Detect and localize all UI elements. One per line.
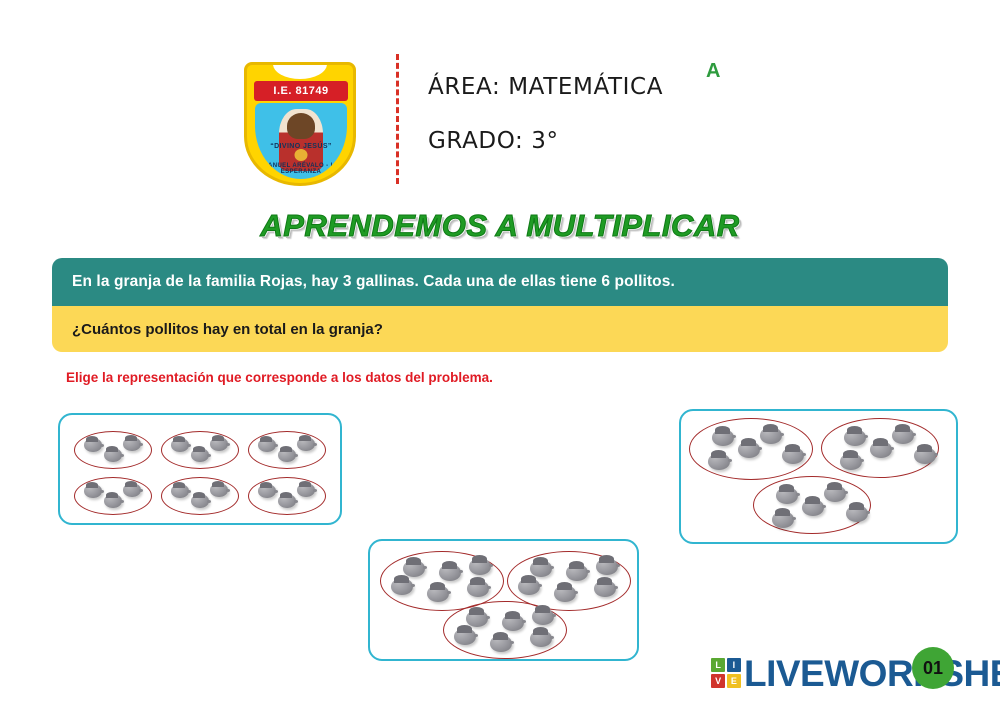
chick-icon <box>171 438 189 452</box>
sacred-heart-figure-icon <box>279 109 323 171</box>
chick-icon <box>566 564 588 581</box>
badge-code-band: I.E. 81749 <box>254 81 348 101</box>
chick-icon <box>84 438 102 452</box>
chick-icon <box>210 437 228 451</box>
page-title: APRENDEMOS A MULTIPLICAR <box>0 208 1000 244</box>
chick-group <box>753 476 871 534</box>
chick-icon <box>844 429 866 446</box>
chick-icon <box>846 505 868 522</box>
chick-icon <box>278 494 296 508</box>
chick-icon <box>892 427 914 444</box>
chick-icon <box>171 484 189 498</box>
problem-question-text: ¿Cuántos pollitos hay en total en la gra… <box>52 321 383 338</box>
chick-icon <box>466 610 488 627</box>
header-dashed-divider <box>396 54 399 184</box>
badge-arc-decoration <box>273 62 327 79</box>
problem-statement-text: En la granja de la familia Rojas, hay 3 … <box>52 273 675 291</box>
answer-option-2[interactable] <box>368 539 639 661</box>
worksheet-header: I.E. 81749 “DIVINO JESÚS” MANUEL ARÉVALO… <box>0 48 1000 198</box>
school-logo: I.E. 81749 “DIVINO JESÚS” MANUEL ARÉVALO… <box>237 62 363 190</box>
grade-line: GRADO: 3° <box>428 128 663 154</box>
heart-icon <box>295 149 308 161</box>
liveworksheets-logo-tile-e: E <box>727 674 741 688</box>
liveworksheets-wordmark: LIVEWORKSHEETS <box>744 653 1000 695</box>
liveworksheets-logo-tile-v: V <box>711 674 725 688</box>
chick-icon <box>824 485 846 502</box>
chick-icon <box>870 441 892 458</box>
chick-icon <box>469 558 491 575</box>
chick-icon <box>258 438 276 452</box>
chick-group <box>248 477 326 515</box>
page-number-badge: 01 <box>912 647 954 689</box>
problem-statement-banner: En la granja de la familia Rojas, hay 3 … <box>52 258 948 306</box>
chick-icon <box>439 564 461 581</box>
chick-icon <box>532 608 554 625</box>
chick-icon <box>596 558 618 575</box>
school-code-label: I.E. 81749 <box>273 85 328 97</box>
chick-icon <box>191 448 209 462</box>
liveworksheets-logo-icon: LIVE <box>711 658 741 688</box>
chick-icon <box>708 453 730 470</box>
chick-icon <box>518 578 540 595</box>
chick-group <box>74 431 152 469</box>
chick-icon <box>840 453 862 470</box>
worksheet-page: I.E. 81749 “DIVINO JESÚS” MANUEL ARÉVALO… <box>0 0 1000 707</box>
school-badge-shield: I.E. 81749 “DIVINO JESÚS” MANUEL ARÉVALO… <box>244 62 356 186</box>
chick-group <box>689 418 813 480</box>
instruction-text: Elige la representación que corresponde … <box>66 370 493 385</box>
chick-icon <box>191 494 209 508</box>
chick-icon <box>297 483 315 497</box>
chick-icon <box>772 511 794 528</box>
chick-group <box>74 477 152 515</box>
problem-question-banner: ¿Cuántos pollitos hay en total en la gra… <box>52 306 948 352</box>
chick-icon <box>391 578 413 595</box>
chick-icon <box>104 494 122 508</box>
chick-icon <box>104 448 122 462</box>
chick-icon <box>84 484 102 498</box>
figure-hair-icon <box>287 113 315 139</box>
chick-icon <box>530 560 552 577</box>
chick-group <box>821 418 939 478</box>
chick-icon <box>776 487 798 504</box>
chick-icon <box>403 560 425 577</box>
chick-icon <box>914 447 936 464</box>
chick-icon <box>454 628 476 645</box>
chick-icon <box>123 437 141 451</box>
chick-icon <box>467 580 489 597</box>
chick-icon <box>210 483 228 497</box>
chick-icon <box>123 483 141 497</box>
answer-option-3[interactable] <box>679 409 958 544</box>
chick-icon <box>738 441 760 458</box>
chick-icon <box>760 427 782 444</box>
school-location-label: MANUEL ARÉVALO - LA ESPERANZA <box>255 163 347 175</box>
liveworksheets-logo-tile-i: I <box>727 658 741 672</box>
badge-inner-field: “DIVINO JESÚS” MANUEL ARÉVALO - LA ESPER… <box>255 103 347 179</box>
chick-icon <box>554 585 576 602</box>
chick-group <box>161 431 239 469</box>
chick-icon <box>297 437 315 451</box>
chick-icon <box>427 585 449 602</box>
chick-icon <box>782 447 804 464</box>
chick-icon <box>712 429 734 446</box>
liveworksheets-logo-tile-l: L <box>711 658 725 672</box>
chick-icon <box>278 448 296 462</box>
chick-icon <box>258 484 276 498</box>
answer-option-1[interactable] <box>58 413 342 525</box>
header-text-block: ÁREA: MATEMÁTICA GRADO: 3° <box>428 74 663 182</box>
chick-group <box>161 477 239 515</box>
section-marker-a: A <box>706 60 720 83</box>
chick-icon <box>802 499 824 516</box>
area-line: ÁREA: MATEMÁTICA <box>428 74 663 100</box>
school-name-label: “DIVINO JESÚS” <box>255 143 347 150</box>
chick-icon <box>502 614 524 631</box>
chick-icon <box>594 580 616 597</box>
chick-group <box>248 431 326 469</box>
worksheet-footer: LIVE LIVEWORKSHEETS 01 <box>0 645 1000 707</box>
